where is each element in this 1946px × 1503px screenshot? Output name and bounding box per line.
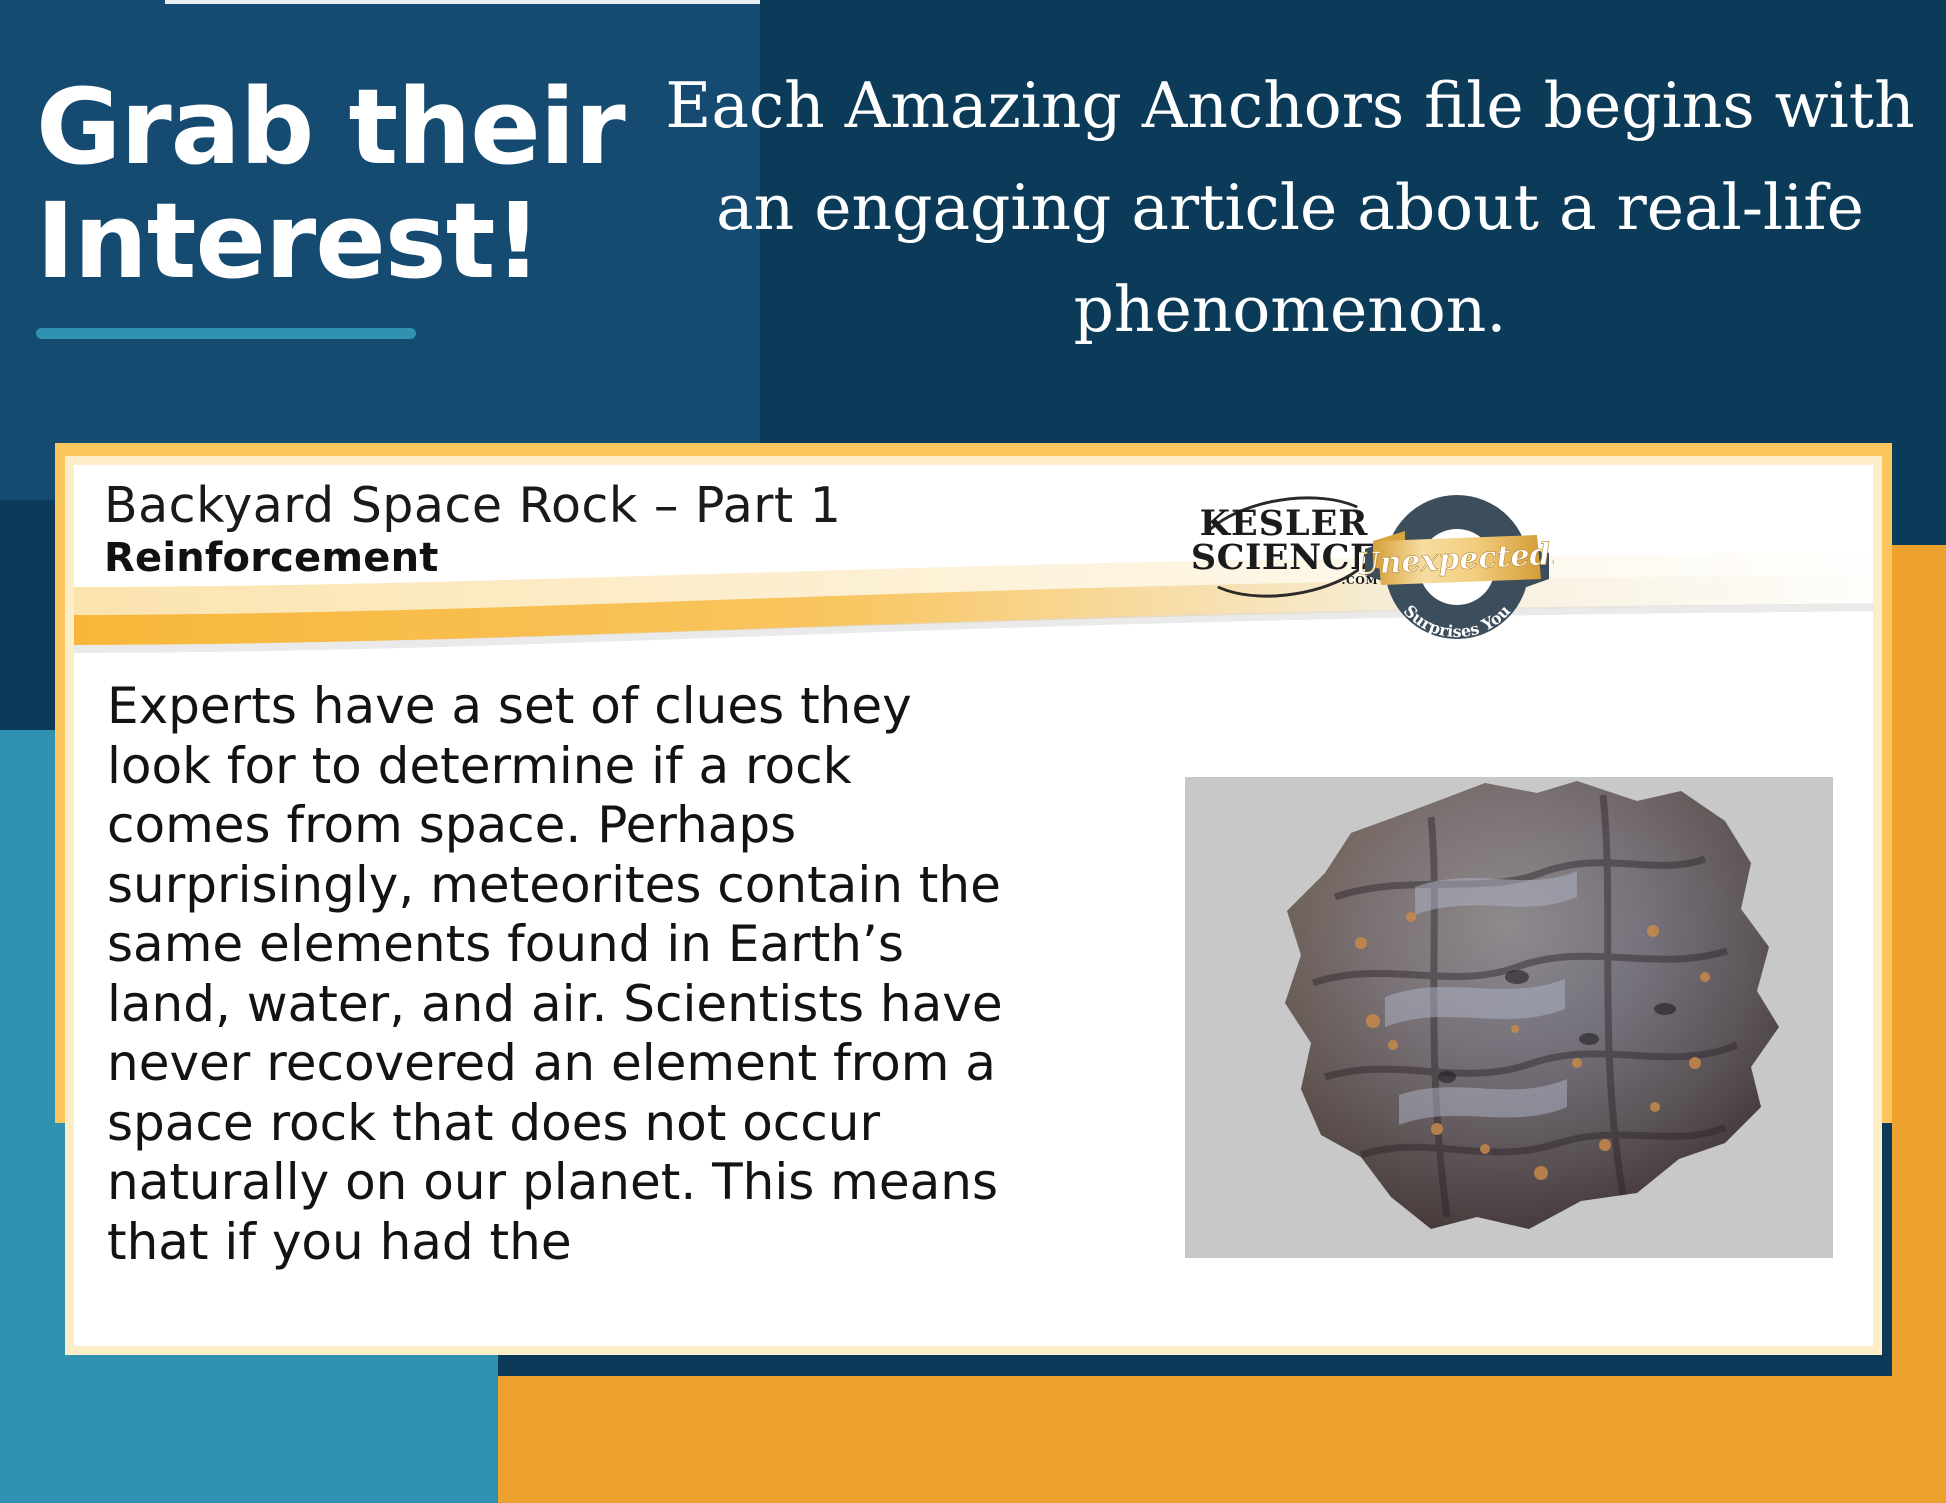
article-line: naturally on our planet. This means that… bbox=[107, 1153, 1107, 1272]
kesler-science-logo: KESLER SCIENCE .COM bbox=[1184, 507, 1384, 586]
worksheet-page: Backyard Space Rock – Part 1 Reinforceme… bbox=[74, 465, 1873, 1346]
meteorite-photo-icon bbox=[1185, 777, 1833, 1258]
article-line: never recovered an element from a bbox=[107, 1034, 1107, 1094]
article-line: comes from space. Perhaps bbox=[107, 796, 1107, 856]
title-underline-rule bbox=[36, 328, 416, 339]
top-hairline-divider bbox=[165, 0, 760, 4]
article-line: surprisingly, meteorites contain the bbox=[107, 856, 1107, 916]
document-title: Backyard Space Rock – Part 1 bbox=[104, 477, 841, 534]
article-line: Experts have a set of clues they bbox=[107, 677, 1107, 737]
background-orange-bottom-band bbox=[498, 1376, 1946, 1503]
article-line: same elements found in Earth’s bbox=[107, 915, 1107, 975]
logo-line-1: KESLER bbox=[1184, 507, 1384, 541]
page-title: Grab their Interest! bbox=[36, 70, 636, 299]
logo-line-2: SCIENCE bbox=[1184, 541, 1384, 575]
background-teal-bottom-block bbox=[0, 1376, 498, 1503]
article-line: space rock that does not occur bbox=[107, 1094, 1107, 1154]
document-subtitle: Reinforcement bbox=[104, 535, 439, 581]
article-line: land, water, and air. Scientists have bbox=[107, 975, 1107, 1035]
slide-canvas: Grab their Interest! Each Amazing Anchor… bbox=[0, 0, 1946, 1503]
article-body: Experts have a set of clues they look fo… bbox=[107, 677, 1107, 1272]
badge-seal-icon: When Science Surprises You Unexpected! bbox=[1359, 475, 1554, 640]
lede-paragraph: Each Amazing Anchors file begins with an… bbox=[660, 55, 1920, 361]
article-line: look for to determine if a rock bbox=[107, 737, 1107, 797]
background-orange-right-bar bbox=[1892, 545, 1946, 1503]
